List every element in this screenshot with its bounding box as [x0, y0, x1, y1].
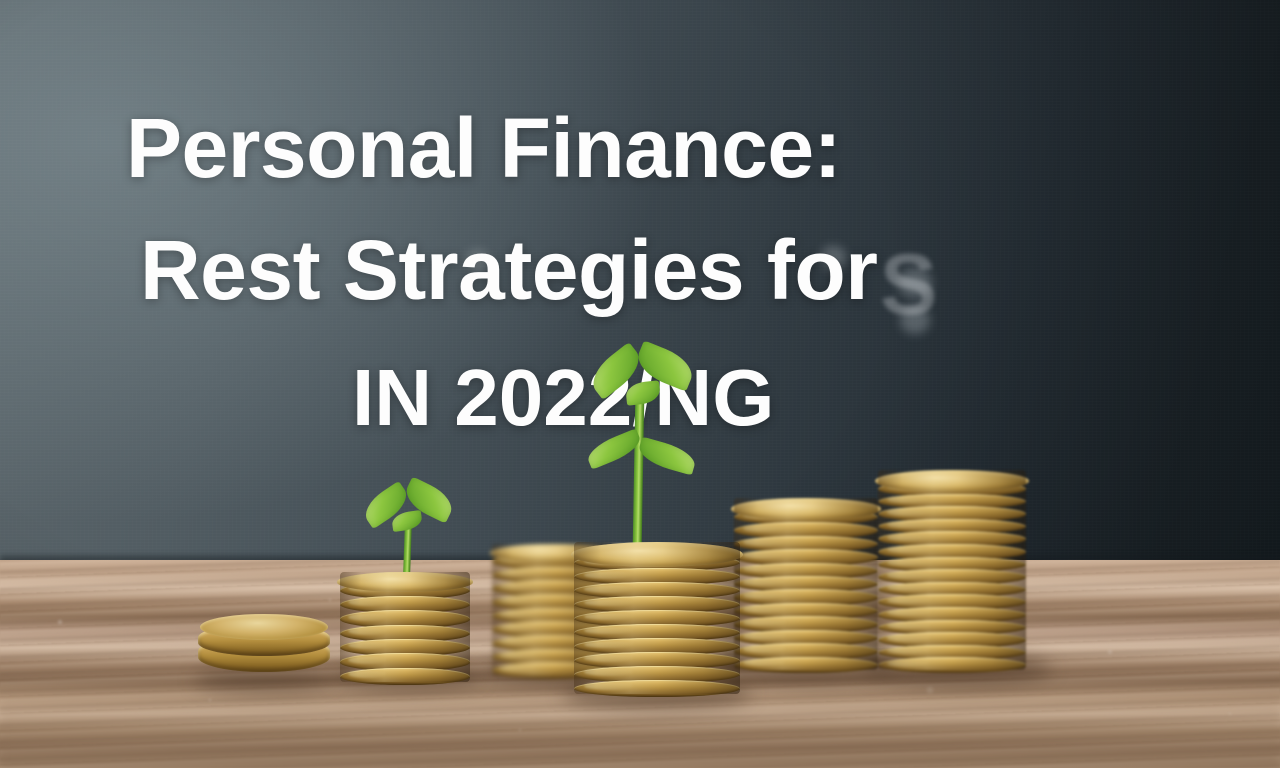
coin-flat-face [200, 614, 328, 640]
coin-top-face [875, 470, 1029, 492]
coin-stack-tall-center [574, 542, 740, 694]
coin-top-face [571, 542, 744, 567]
coin-disc [734, 657, 878, 673]
coin-top-face [731, 498, 881, 520]
coin-disc [340, 668, 470, 685]
coin-disc [574, 680, 740, 697]
banner-image: S Personal Finance: Rest Strategies for … [0, 0, 1280, 768]
coin-stack-taller [734, 498, 878, 670]
coin-disc [878, 657, 1026, 673]
coin-stack-short [340, 572, 470, 682]
coin-top-face [337, 572, 472, 592]
coin-stack-tallest [878, 470, 1026, 670]
